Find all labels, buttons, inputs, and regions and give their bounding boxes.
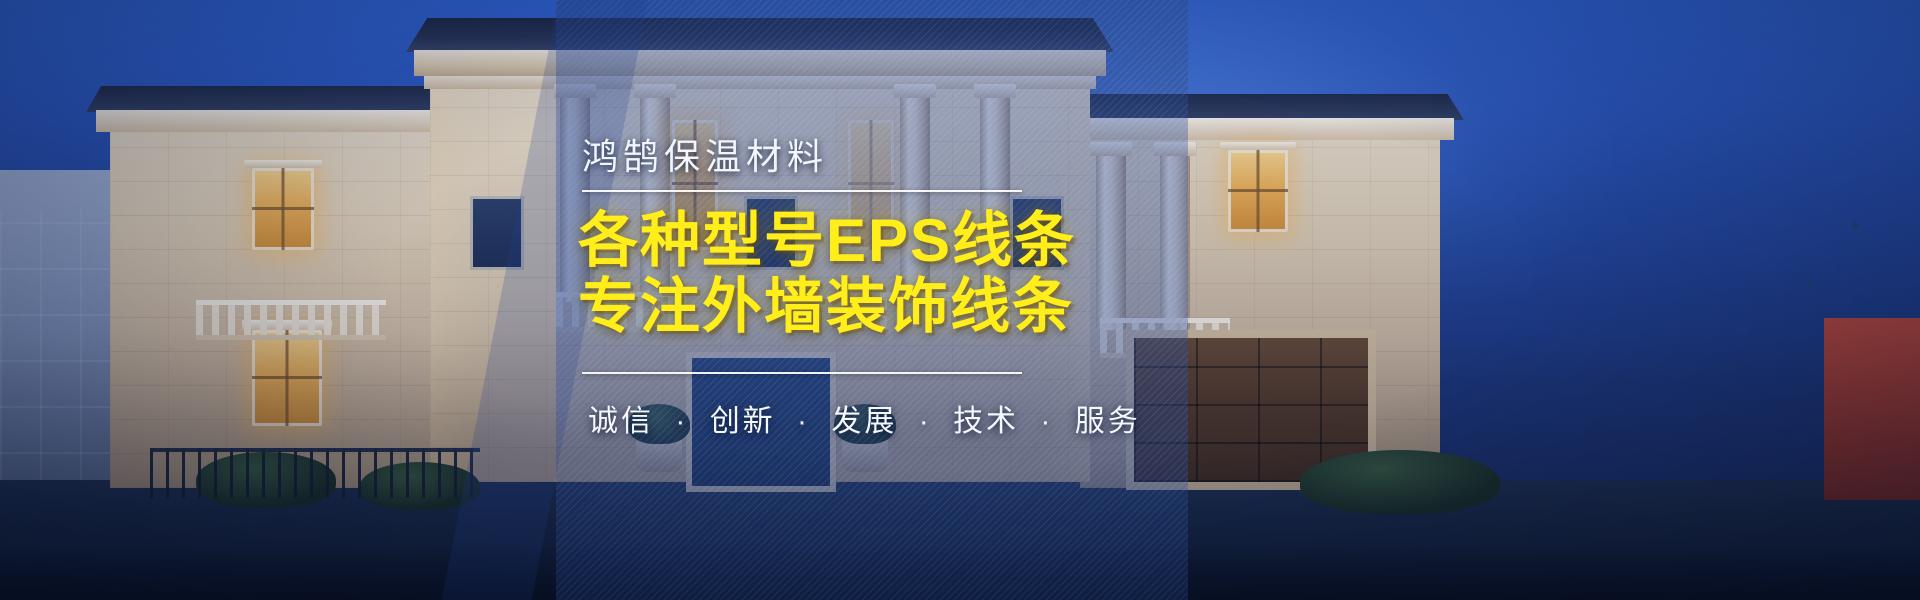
headline-line-1: 各种型号EPS线条 (578, 210, 1076, 272)
tagline-item: 诚信 (588, 405, 654, 438)
tagline-item: 创新 (710, 405, 776, 438)
tagline-item: 发展 (831, 405, 897, 438)
tagline-separator: · (909, 405, 942, 438)
tagline-separator: · (787, 405, 820, 438)
divider-bottom (582, 372, 1022, 374)
tagline-item: 服务 (1075, 405, 1141, 438)
headline-line-2: 专注外墙装饰线条 (578, 276, 1074, 338)
promo-banner: 鸿鹄保温材料 各种型号EPS线条 专注外墙装饰线条 诚信 · 创新 · 发展 ·… (0, 0, 1920, 600)
brand-name: 鸿鹄保温材料 (582, 128, 828, 180)
tagline-item: 技术 (953, 405, 1019, 438)
divider-top (582, 190, 1022, 192)
tagline-separator: · (665, 405, 698, 438)
banner-content: 鸿鹄保温材料 各种型号EPS线条 专注外墙装饰线条 诚信 · 创新 · 发展 ·… (560, 0, 1200, 600)
tagline: 诚信 · 创新 · 发展 · 技术 · 服务 (588, 396, 1141, 440)
tagline-separator: · (1030, 405, 1063, 438)
